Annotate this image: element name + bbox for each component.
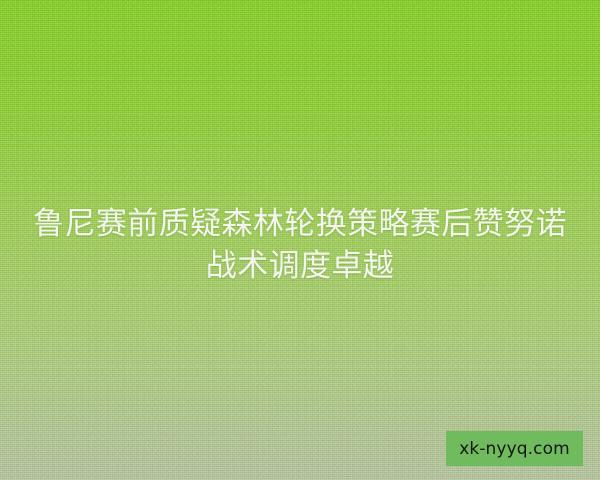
promo-banner: 鲁尼赛前质疑森林轮换策略赛后赞努诺战术调度卓越 xk-nyyq.com: [0, 0, 600, 480]
banner-headline: 鲁尼赛前质疑森林轮换策略赛后赞努诺战术调度卓越: [20, 203, 580, 287]
headline-container: 鲁尼赛前质疑森林轮换策略赛后赞努诺战术调度卓越: [0, 203, 600, 287]
site-url-badge[interactable]: xk-nyyq.com: [446, 431, 583, 466]
site-url-label: xk-nyyq.com: [459, 439, 570, 459]
